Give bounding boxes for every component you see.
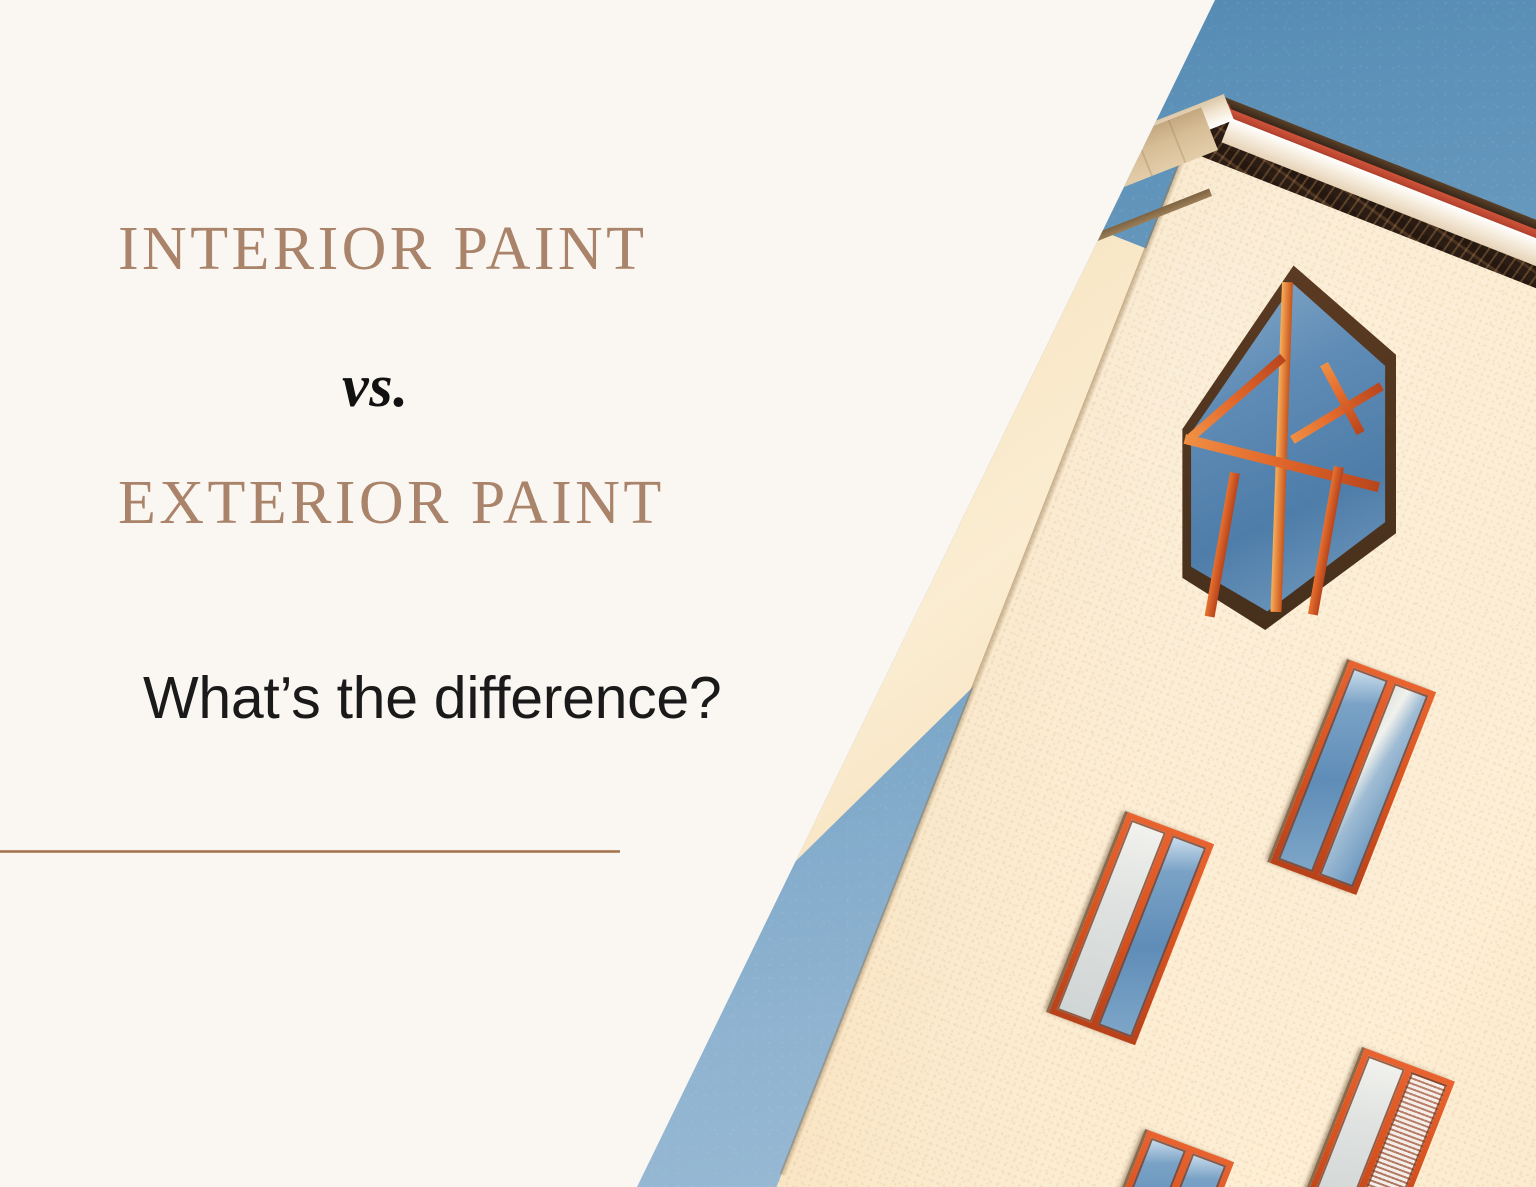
gable-window <box>1178 258 1396 630</box>
horizontal-rule <box>0 850 620 853</box>
title-line-exterior: EXTERIOR PAINT <box>118 468 665 539</box>
house-photo <box>0 0 1536 1187</box>
poster-canvas: INTERIOR PAINT vs. EXTERIOR PAINT What’s… <box>0 0 1536 1187</box>
title-line-interior: INTERIOR PAINT <box>118 214 647 285</box>
versus-separator: vs. <box>342 352 409 421</box>
house <box>0 0 1536 1187</box>
subtitle-question: What’s the difference? <box>143 664 721 732</box>
